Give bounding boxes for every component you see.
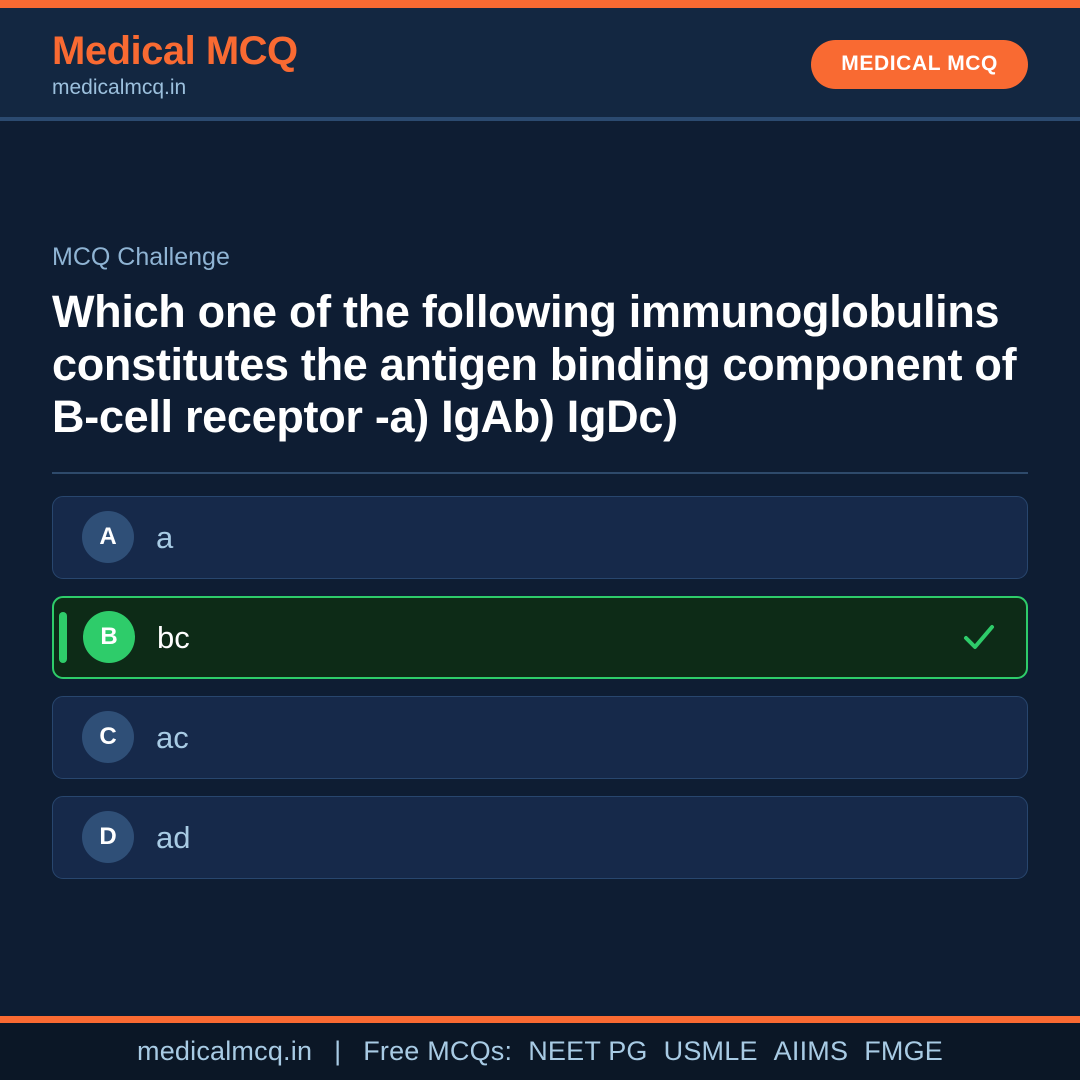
footer-tag-neet-pg: NEET PG: [512, 1036, 647, 1067]
check-icon: [960, 618, 998, 656]
question-kicker: MCQ Challenge: [52, 245, 1028, 270]
option-label: ac: [156, 722, 999, 753]
footer-tag-fmge: FMGE: [848, 1036, 943, 1067]
question-text: Which one of the following immunoglobuli…: [52, 286, 1028, 444]
correct-accent-bar: [59, 612, 67, 663]
option-c[interactable]: C ac: [52, 696, 1028, 779]
page-header: Medical MCQ medicalmcq.in MEDICAL MCQ: [0, 8, 1080, 121]
brand-title: Medical MCQ: [52, 31, 298, 71]
option-label: bc: [157, 622, 960, 653]
option-d[interactable]: D ad: [52, 796, 1028, 879]
footer-free-label: Free MCQs:: [363, 1036, 512, 1067]
footer-site: medicalmcq.in: [137, 1036, 312, 1067]
brand-block: Medical MCQ medicalmcq.in: [52, 31, 298, 98]
options-list: A a B bc C ac: [52, 496, 1028, 879]
footer-accent-bar: [0, 1016, 1080, 1023]
option-label: ad: [156, 822, 999, 853]
question-divider: [52, 472, 1028, 474]
option-letter-badge: B: [83, 611, 135, 663]
mcq-card: Medical MCQ medicalmcq.in MEDICAL MCQ MC…: [0, 0, 1080, 1080]
page-footer: medicalmcq.in | Free MCQs: NEET PG USMLE…: [0, 1023, 1080, 1080]
footer-tag-aiims: AIIMS: [758, 1036, 849, 1067]
option-label: a: [156, 522, 999, 553]
footer-tag-usmle: USMLE: [648, 1036, 758, 1067]
option-letter-badge: D: [82, 811, 134, 863]
brand-subtitle: medicalmcq.in: [52, 77, 298, 98]
option-a[interactable]: A a: [52, 496, 1028, 579]
option-letter-badge: C: [82, 711, 134, 763]
option-b[interactable]: B bc: [52, 596, 1028, 679]
top-accent-bar: [0, 0, 1080, 8]
footer-separator: |: [312, 1036, 363, 1067]
question-area: MCQ Challenge Which one of the following…: [0, 121, 1080, 1016]
option-letter-badge: A: [82, 511, 134, 563]
header-badge: MEDICAL MCQ: [811, 40, 1028, 89]
